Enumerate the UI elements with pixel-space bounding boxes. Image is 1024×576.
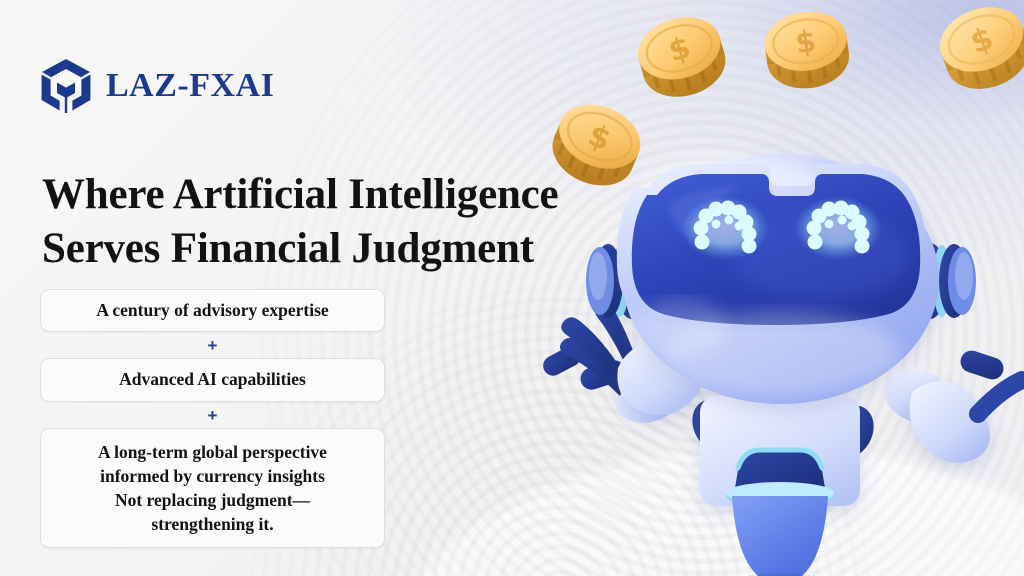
value-separator-plus-1: + bbox=[40, 332, 385, 358]
value-pill-line-1: A long-term global perspective bbox=[98, 442, 327, 462]
hero-banner: $ $ bbox=[0, 0, 1024, 576]
page-title: Where Artificial Intelligence Serves Fin… bbox=[42, 168, 642, 276]
value-pill-line-3: Not replacing judgment— bbox=[115, 490, 310, 510]
value-pill-expertise: A century of advisory expertise bbox=[40, 289, 385, 332]
value-pill-ai: Advanced AI capabilities bbox=[40, 358, 385, 401]
robot-torso bbox=[700, 396, 860, 576]
headline-line-1: Where Artificial Intelligence bbox=[42, 171, 558, 218]
value-pill-line-2: informed by currency insights bbox=[100, 466, 325, 486]
hero-content: LAZ-FXAI Where Artificial Intelligence S… bbox=[40, 0, 600, 576]
value-separator-plus-2: + bbox=[40, 402, 385, 428]
cube-hexagon-logo-icon bbox=[40, 58, 92, 114]
dollar-coin-icon: $ bbox=[929, 0, 1024, 100]
value-pill-line-4: strengthening it. bbox=[151, 514, 273, 534]
brand-name: LAZ-FXAI bbox=[106, 69, 274, 103]
brand-lockup: LAZ-FXAI bbox=[40, 58, 274, 114]
value-stack: A century of advisory expertise + Advanc… bbox=[40, 289, 385, 548]
headline-line-2: Serves Financial Judgment bbox=[42, 225, 534, 272]
dollar-coin-icon: $ bbox=[627, 8, 737, 108]
value-pill-perspective: A long-term global perspective informed … bbox=[40, 428, 385, 549]
dollar-coin-icon: $ bbox=[753, 2, 861, 100]
